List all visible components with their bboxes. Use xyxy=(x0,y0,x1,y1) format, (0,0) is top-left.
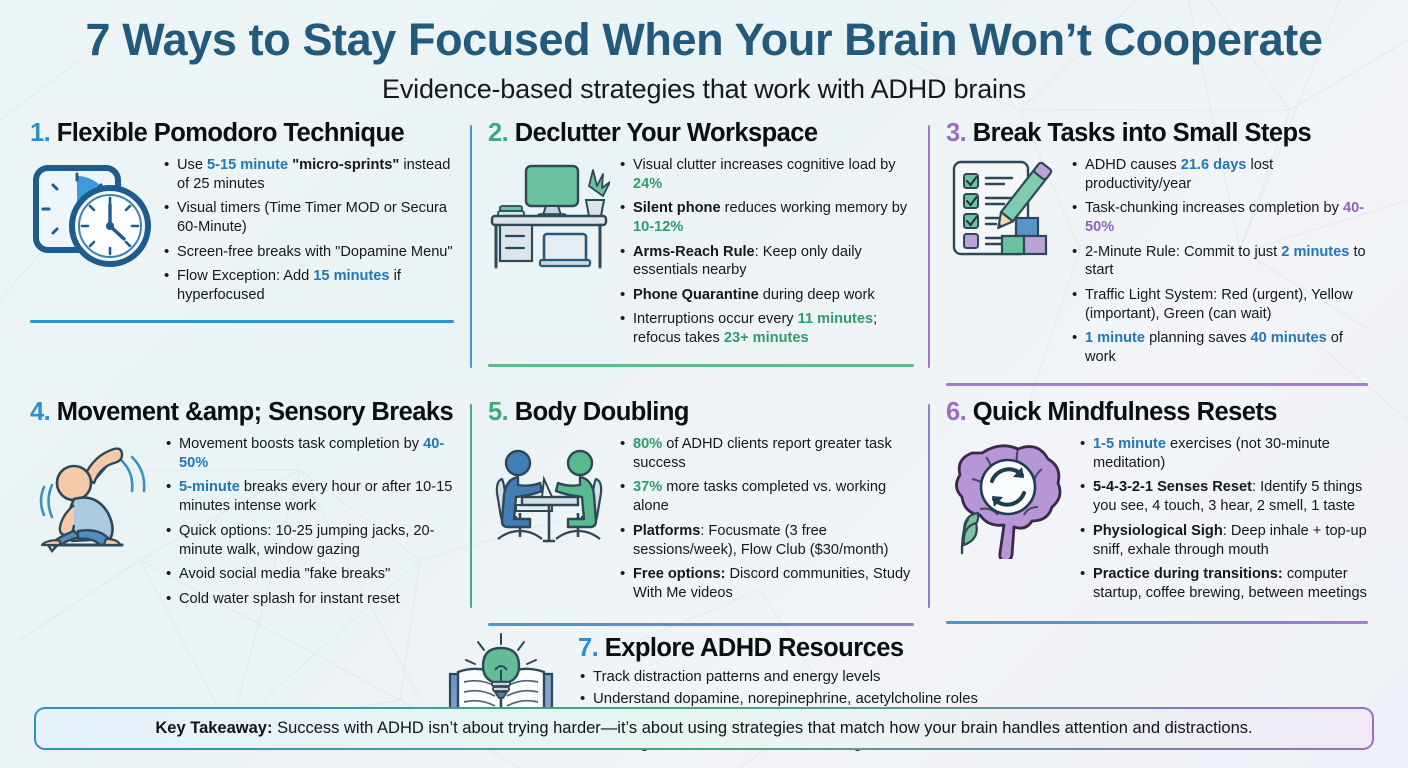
section-5-heading: 5. Body Doubling xyxy=(488,398,914,426)
section-6-points: 1-5 minute exercises (not 30-minute medi… xyxy=(1078,435,1368,609)
list-item: Visual clutter increases cognitive load … xyxy=(618,156,914,194)
list-item: 5-4-3-2-1 Senses Reset: Identify 5 thing… xyxy=(1078,478,1368,516)
section-3-title: Break Tasks into Small Steps xyxy=(973,119,1311,147)
list-item: Interruptions occur every 11 minutes; re… xyxy=(618,310,914,348)
section-7-number: 7. xyxy=(578,634,598,662)
section-4-title: Movement &amp; Sensory Breaks xyxy=(57,398,453,426)
list-item: 37% more tasks completed vs. working alo… xyxy=(618,478,914,516)
section-6-heading: 6. Quick Mindfulness Resets xyxy=(946,398,1368,426)
section-2-title: Declutter Your Workspace xyxy=(515,119,818,147)
list-item: Screen-free breaks with "Dopamine Menu" xyxy=(162,243,454,262)
two-people-desk-icon xyxy=(488,435,610,551)
section-3-points: ADHD causes 21.6 days lost productivity/… xyxy=(1070,156,1368,373)
section-1-number: 1. xyxy=(30,119,50,147)
section-5-divider xyxy=(488,623,914,626)
section-3-heading: 3. Break Tasks into Small Steps xyxy=(946,119,1368,147)
section-4-number: 4. xyxy=(30,398,50,426)
list-item: Visual timers (Time Timer MOD or Secura … xyxy=(162,199,454,237)
desk-workspace-icon xyxy=(488,156,610,272)
section-1-divider xyxy=(30,320,454,323)
list-item: Flow Exception: Add 15 minutes if hyperf… xyxy=(162,267,454,305)
section-5-title: Body Doubling xyxy=(515,398,689,426)
list-item: 1-5 minute exercises (not 30-minute medi… xyxy=(1078,435,1368,473)
list-item: 80% of ADHD clients report greater task … xyxy=(618,435,914,473)
list-item: Phone Quarantine during deep work xyxy=(618,286,914,305)
brain-refresh-icon xyxy=(946,435,1070,559)
list-item: Task-chunking increases completion by 40… xyxy=(1070,199,1368,237)
list-item: Avoid social media "fake breaks" xyxy=(164,565,454,584)
section-7-title: Explore ADHD Resources xyxy=(605,634,904,662)
section-card-3: 3. Break Tasks into Small Steps xyxy=(928,119,1378,386)
section-3-divider xyxy=(946,383,1368,386)
list-item: Track distraction patterns and energy le… xyxy=(578,668,978,687)
section-card-6: 6. Quick Mindfulness Resets xyxy=(928,398,1378,626)
key-takeaway-text: Success with ADHD isn’t about trying har… xyxy=(272,719,1252,737)
section-card-1: 1. Flexible Pomodoro Technique xyxy=(22,119,470,386)
section-4-points: Movement boosts task completion by 40-50… xyxy=(164,435,454,614)
key-takeaway-label: Key Takeaway: xyxy=(155,719,272,737)
page-title: 7 Ways to Stay Focused When Your Brain W… xyxy=(22,16,1386,65)
section-card-4: 4. Movement &amp; Sensory Breaks xyxy=(22,398,470,626)
section-6-number: 6. xyxy=(946,398,966,426)
clock-timer-icon xyxy=(30,156,154,274)
section-2-points: Visual clutter increases cognitive load … xyxy=(618,156,914,354)
page-subtitle: Evidence-based strategies that work with… xyxy=(22,74,1386,105)
list-item: Platforms: Focusmate (3 free sessions/we… xyxy=(618,522,914,560)
list-item: 5-minute breaks every hour or after 10-1… xyxy=(164,478,454,516)
list-item: Movement boosts task completion by 40-50… xyxy=(164,435,454,473)
section-2-divider xyxy=(488,364,914,367)
sections-row-1: 1. Flexible Pomodoro Technique xyxy=(22,119,1386,386)
list-item: Arms-Reach Rule: Keep only daily essenti… xyxy=(618,243,914,281)
section-6-divider xyxy=(946,621,1368,624)
section-4-heading: 4. Movement &amp; Sensory Breaks xyxy=(30,398,454,426)
checklist-pencil-icon xyxy=(946,156,1062,268)
list-item: ADHD causes 21.6 days lost productivity/… xyxy=(1070,156,1368,194)
section-5-points: 80% of ADHD clients report greater task … xyxy=(618,435,914,609)
section-2-number: 2. xyxy=(488,119,508,147)
list-item: 2-Minute Rule: Commit to just 2 minutes … xyxy=(1070,243,1368,281)
section-3-number: 3. xyxy=(946,119,966,147)
list-item: Use 5-15 minute "micro-sprints" instead … xyxy=(162,156,454,194)
list-item: Quick options: 10-25 jumping jacks, 20-m… xyxy=(164,522,454,560)
list-item: Physiological Sigh: Deep inhale + top-up… xyxy=(1078,522,1368,560)
section-1-points: Use 5-15 minute "micro-sprints" instead … xyxy=(162,156,454,311)
list-item: Practice during transitions: computer st… xyxy=(1078,565,1368,603)
section-5-number: 5. xyxy=(488,398,508,426)
infographic-page: 7 Ways to Stay Focused When Your Brain W… xyxy=(0,0,1408,768)
list-item: Traffic Light System: Red (urgent), Yell… xyxy=(1070,286,1368,324)
section-7-heading: 7. Explore ADHD Resources xyxy=(578,634,978,662)
list-item: 1 minute planning saves 40 minutes of wo… xyxy=(1070,329,1368,367)
section-card-2: 2. Declutter Your Workspace xyxy=(470,119,928,386)
list-item: Free options: Discord communities, Study… xyxy=(618,565,914,603)
list-item: Silent phone reduces working memory by 1… xyxy=(618,199,914,237)
section-1-title: Flexible Pomodoro Technique xyxy=(57,119,404,147)
sections-row-2: 4. Movement &amp; Sensory Breaks xyxy=(22,398,1386,626)
section-6-title: Quick Mindfulness Resets xyxy=(973,398,1277,426)
section-1-heading: 1. Flexible Pomodoro Technique xyxy=(30,119,454,147)
section-2-heading: 2. Declutter Your Workspace xyxy=(488,119,914,147)
key-takeaway-banner: Key Takeaway: Success with ADHD isn’t ab… xyxy=(34,707,1374,750)
header: 7 Ways to Stay Focused When Your Brain W… xyxy=(22,0,1386,105)
list-item: Cold water splash for instant reset xyxy=(164,590,454,609)
section-card-5: 5. Body Doubling xyxy=(470,398,928,626)
stretching-person-icon xyxy=(30,435,156,559)
